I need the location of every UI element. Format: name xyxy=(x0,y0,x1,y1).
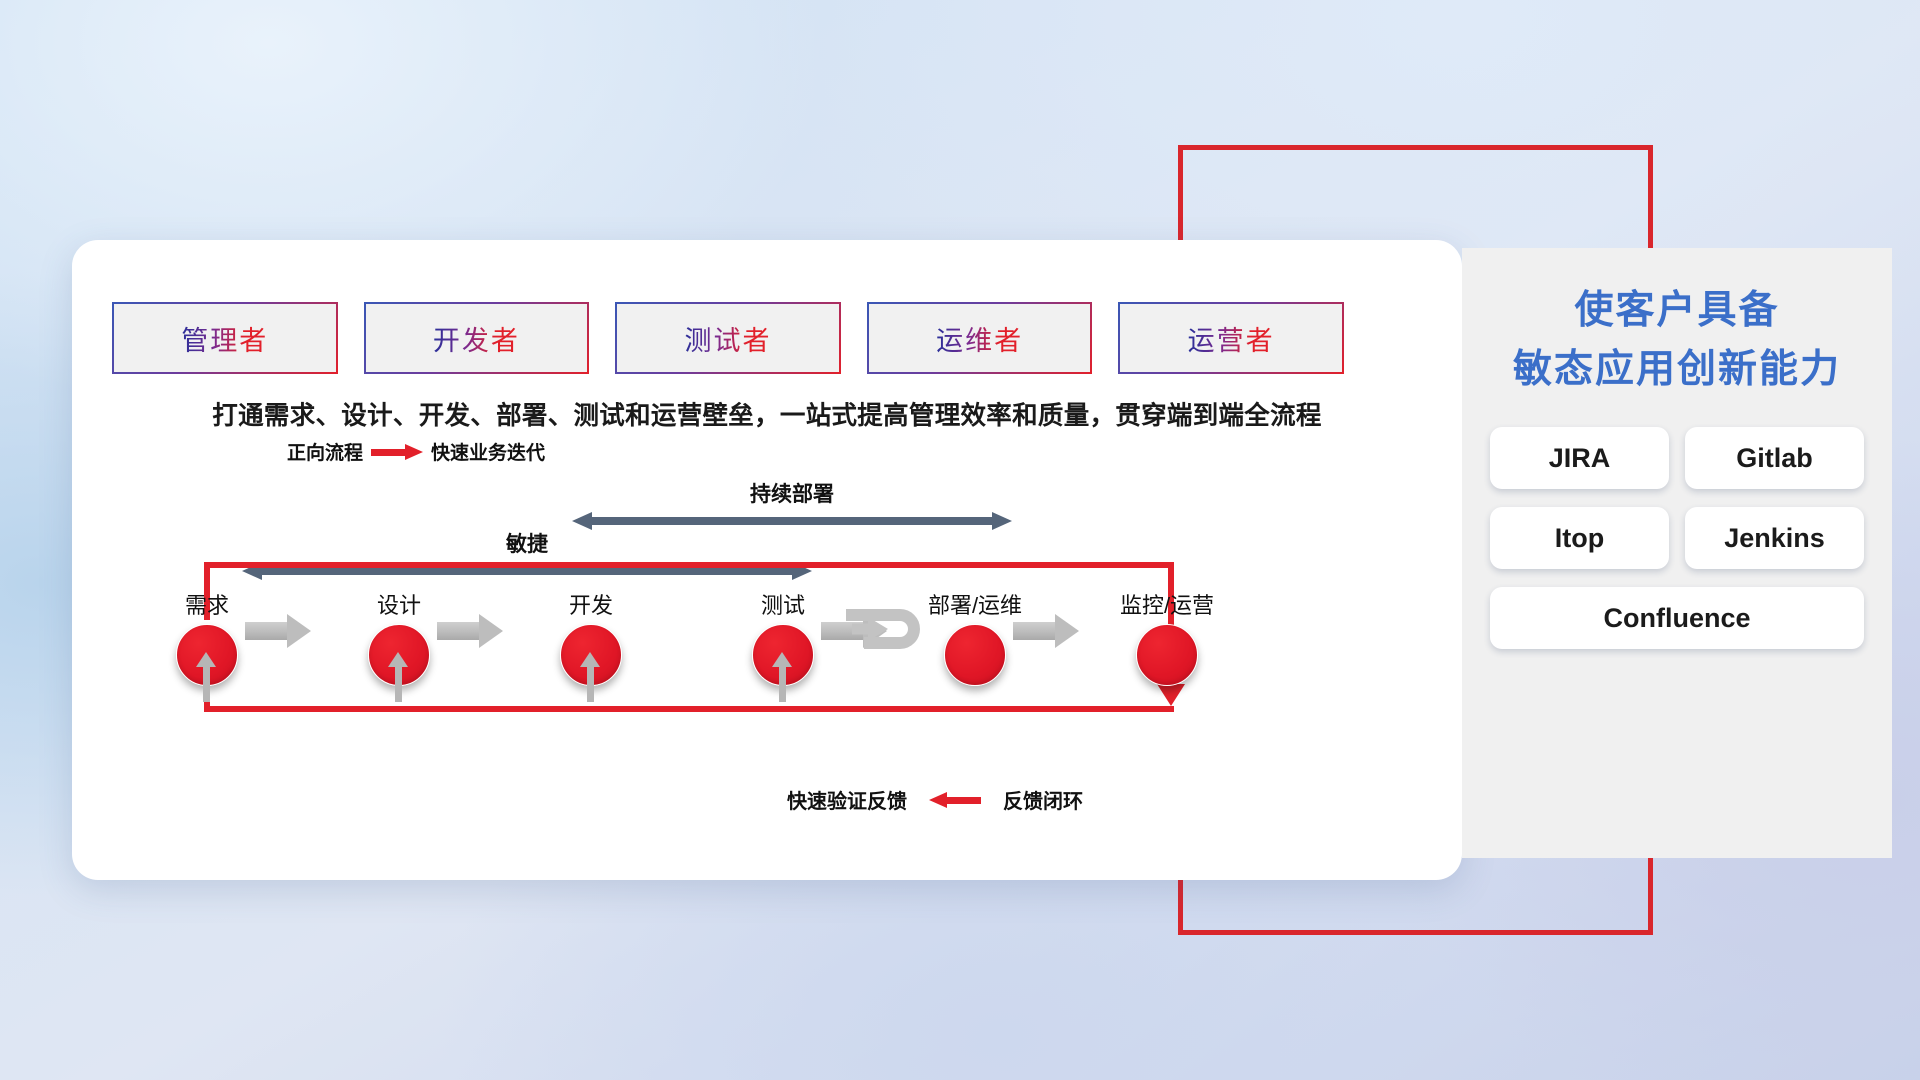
role-box-manager[interactable]: 管理者 xyxy=(112,302,338,374)
tool-chip-grid: JIRA Gitlab Itop Jenkins Confluence xyxy=(1490,427,1864,649)
arrow-left-red-icon xyxy=(929,792,981,808)
devops-loop-icon xyxy=(844,601,932,657)
value-proposition-panel: 使客户具备 敏态应用创新能力 JIRA Gitlab Itop Jenkins … xyxy=(1462,248,1892,858)
tool-chip-gitlab[interactable]: Gitlab xyxy=(1685,427,1864,489)
role-box-tester[interactable]: 测试者 xyxy=(615,302,841,374)
span-continuous-deployment: 持续部署 xyxy=(572,478,1012,530)
panel-title-line2: 敏态应用创新能力 xyxy=(1490,341,1864,400)
span-agile: 敏捷 xyxy=(242,528,812,580)
legend-feedback-from-label: 快速验证反馈 xyxy=(787,785,907,814)
pipeline-node-dot xyxy=(1136,624,1198,686)
node-riser-line xyxy=(779,664,786,702)
node-riser-line xyxy=(587,664,594,702)
role-label: 测试者 xyxy=(684,319,771,358)
span-label: 敏捷 xyxy=(242,528,812,558)
role-box-ops-engineer[interactable]: 运维者 xyxy=(867,302,1093,374)
role-box-operator[interactable]: 运营者 xyxy=(1118,302,1344,374)
legend-forward-from-label: 正向流程 xyxy=(287,438,363,465)
span-label: 持续部署 xyxy=(572,478,1012,508)
role-label: 管理者 xyxy=(181,319,268,358)
role-box-developer[interactable]: 开发者 xyxy=(364,302,590,374)
chevron-right-icon xyxy=(1013,614,1079,648)
pipeline-node-label: 监控/运营 xyxy=(1092,588,1242,620)
node-riser-arrow-icon xyxy=(388,652,408,667)
legend-feedback-to-label: 反馈闭环 xyxy=(1003,785,1083,814)
role-label: 开发者 xyxy=(433,319,520,358)
roles-row: 管理者 开发者 测试者 运维者 运营者 xyxy=(112,302,1344,374)
slide-canvas: 管理者 开发者 测试者 运维者 运营者 打通需求、设计、开发、部署、测试和运营壁… xyxy=(0,0,1920,1080)
role-label: 运营者 xyxy=(1188,319,1275,358)
chevron-right-icon xyxy=(437,614,503,648)
role-label: 运维者 xyxy=(936,319,1023,358)
tool-chip-jenkins[interactable]: Jenkins xyxy=(1685,507,1864,569)
node-riser-arrow-icon xyxy=(772,652,792,667)
arrow-right-red-icon xyxy=(371,444,423,460)
legend-feedback-loop: 快速验证反馈 反馈闭环 xyxy=(787,785,1083,814)
delivery-pipeline: 需求 设计 开发 测试 部署/运维 监控/运营 xyxy=(132,588,1232,703)
feedback-loop-bottom-line xyxy=(204,706,1174,712)
pipeline-node-dot xyxy=(944,624,1006,686)
tool-chip-itop[interactable]: Itop xyxy=(1490,507,1669,569)
card-description: 打通需求、设计、开发、部署、测试和运营壁垒，一站式提高管理效率和质量，贯穿端到端… xyxy=(72,395,1462,432)
chevron-right-icon xyxy=(245,614,311,648)
tool-chip-confluence[interactable]: Confluence xyxy=(1490,587,1864,649)
legend-forward-to-label: 快速业务迭代 xyxy=(431,438,545,465)
node-riser-arrow-icon xyxy=(580,652,600,667)
feedback-loop-top-line xyxy=(204,562,1174,568)
legend-forward-flow: 正向流程 快速业务迭代 xyxy=(287,438,545,465)
pipeline-node-label: 开发 xyxy=(516,588,666,620)
pipeline-node-monitor-operations[interactable]: 监控/运营 xyxy=(1092,588,1242,686)
node-riser-line xyxy=(203,664,210,702)
tool-chip-jira[interactable]: JIRA xyxy=(1490,427,1669,489)
node-riser-line xyxy=(395,664,402,702)
devops-overview-card: 管理者 开发者 测试者 运维者 运营者 打通需求、设计、开发、部署、测试和运营壁… xyxy=(72,240,1462,880)
node-riser-arrow-icon xyxy=(196,652,216,667)
panel-title-line1: 使客户具备 xyxy=(1490,282,1864,341)
